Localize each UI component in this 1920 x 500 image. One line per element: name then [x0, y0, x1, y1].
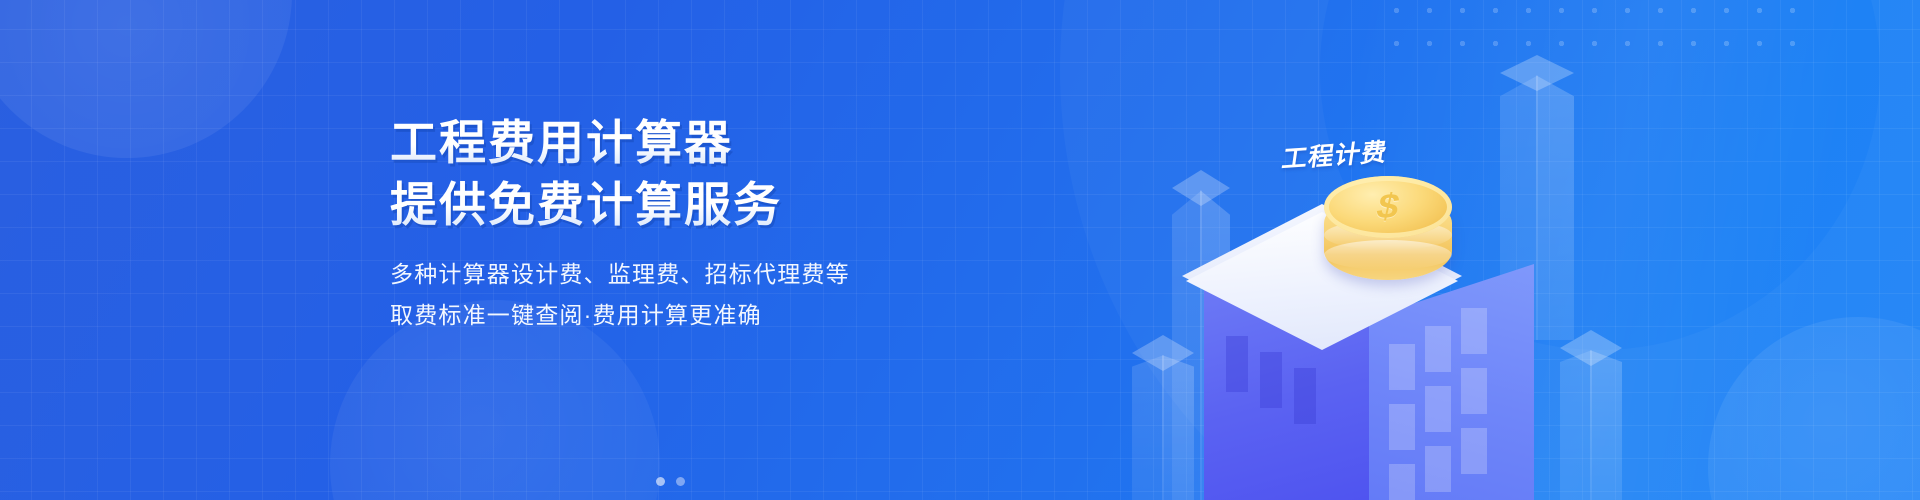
subtitle-line-2: 取费标准一键查阅·费用计算更准确: [390, 295, 1010, 336]
headline-line-2: 提供免费计算服务: [390, 174, 1010, 236]
carousel-dot-2[interactable]: [676, 477, 685, 486]
subtitle-line-1: 多种计算器设计费、监理费、招标代理费等: [390, 254, 1010, 295]
coin-edge-ring: [1324, 240, 1452, 270]
illustration-label: 工程计费: [1280, 132, 1390, 175]
circle-decoration-top-left: [0, 0, 292, 158]
circle-decoration-bottom-right: [1708, 317, 1920, 500]
banner-copy: 工程费用计算器 提供免费计算服务 多种计算器设计费、监理费、招标代理费等 取费标…: [390, 112, 1010, 336]
coin-stack: $: [1318, 168, 1458, 298]
iso-column-short-right: [1560, 330, 1622, 500]
building-coin-illustration: $: [1108, 168, 1528, 500]
carousel-indicators[interactable]: [0, 477, 1630, 486]
carousel-dot-1[interactable]: [656, 477, 665, 486]
dollar-sign-icon: $: [1317, 178, 1458, 235]
dot-grid-decoration: [1380, 0, 1820, 50]
hero-banner: $ 工程计费 工程费用计算器 提供免费计算服务 多种计算器设计费、监理费、招标代…: [0, 0, 1920, 500]
headline-line-1: 工程费用计算器: [390, 112, 1010, 174]
